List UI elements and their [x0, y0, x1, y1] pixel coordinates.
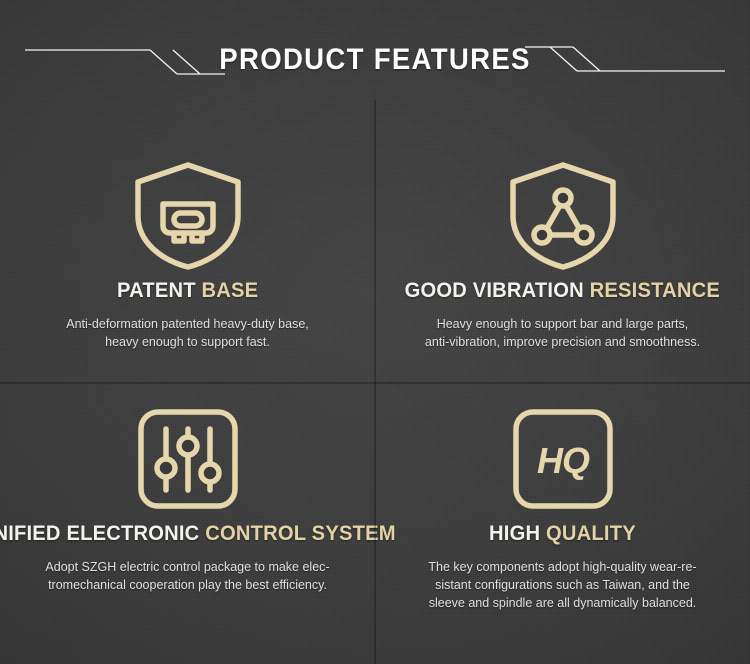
- feature-title-white: GOOD VIBRATION: [405, 279, 590, 302]
- feature-title-gold: CONTROL SYSTEM: [206, 522, 396, 545]
- feature-title-gold: BASE: [201, 279, 258, 302]
- description-line: sistant configurations such as Taiwan, a…: [428, 576, 696, 594]
- hq-badge-label: HQ: [537, 440, 590, 481]
- description-line: Anti-deformation patented heavy-duty bas…: [66, 315, 309, 333]
- feature-description: Heavy enough to support bar and large pa…: [425, 315, 700, 351]
- feature-title-white: HIGH: [489, 522, 546, 545]
- feature-description: Adopt SZGH electric control package to m…: [45, 558, 329, 594]
- header: PRODUCT FEATURES: [0, 0, 750, 100]
- shield-base-icon: [130, 160, 246, 272]
- feature-title: GOOD VIBRATION RESISTANCE: [405, 278, 720, 304]
- description-line: The key components adopt high-quality we…: [428, 558, 696, 576]
- description-line: Adopt SZGH electric control package to m…: [45, 558, 329, 576]
- description-line: heavy enough to support fast.: [66, 333, 309, 351]
- feature-card-high-quality: HQ HIGH QUALITY The key components adopt…: [375, 383, 750, 664]
- shield-triangle-nodes-icon: [505, 160, 621, 272]
- header-right-decoration-icon: [525, 40, 725, 80]
- feature-title: UNIFIED ELECTRONIC CONTROL SYSTEM: [0, 521, 396, 547]
- description-line: sleeve and spindle are all dynamically b…: [428, 594, 696, 612]
- features-grid: PATENT BASE Anti-deformation patented he…: [0, 100, 750, 664]
- feature-title-white: UNIFIED ELECTRONIC: [0, 522, 206, 545]
- feature-description: The key components adopt high-quality we…: [428, 558, 696, 612]
- feature-description: Anti-deformation patented heavy-duty bas…: [66, 315, 309, 351]
- feature-title-white: PATENT: [117, 279, 202, 302]
- feature-card-patent-base: PATENT BASE Anti-deformation patented he…: [0, 100, 375, 383]
- description-line: Heavy enough to support bar and large pa…: [425, 315, 700, 333]
- hq-badge-icon: HQ: [510, 403, 616, 515]
- product-features-banner: PRODUCT FEATURES: [0, 0, 750, 664]
- sliders-square-icon: [135, 403, 241, 515]
- feature-title: HIGH QUALITY: [489, 521, 636, 547]
- feature-card-good-vibration-resistance: GOOD VIBRATION RESISTANCE Heavy enough t…: [375, 100, 750, 383]
- description-line: tromechanical cooperation play the best …: [45, 576, 329, 594]
- feature-title: PATENT BASE: [117, 278, 258, 304]
- description-line: anti-vibration, improve precision and sm…: [425, 333, 700, 351]
- feature-title-gold: RESISTANCE: [590, 279, 720, 302]
- feature-title-gold: QUALITY: [546, 522, 636, 545]
- feature-card-unified-electronic-control-system: UNIFIED ELECTRONIC CONTROL SYSTEM Adopt …: [0, 383, 375, 664]
